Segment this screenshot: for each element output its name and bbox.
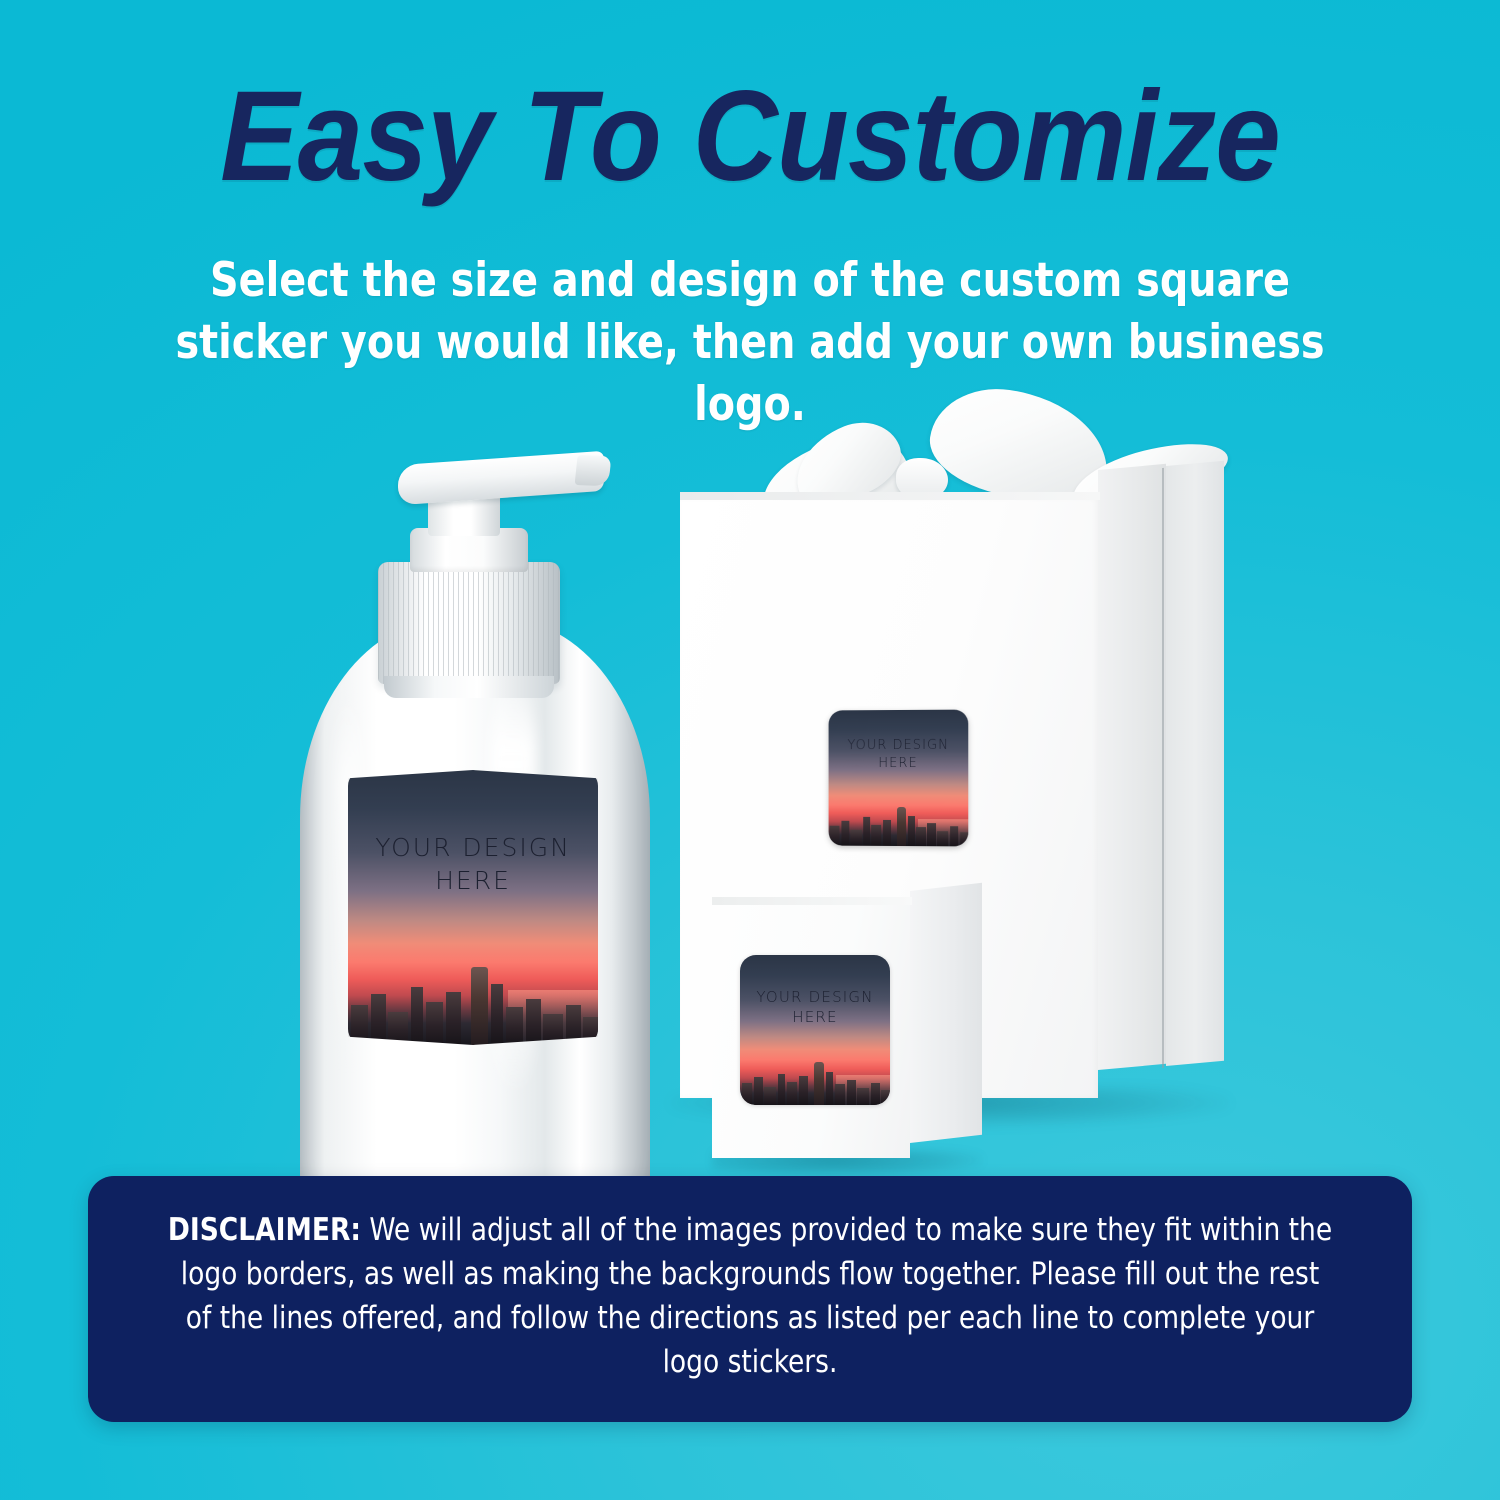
page-title: Easy To Customize (60, 70, 1440, 204)
disclaimer-text: DISCLAIMER: We will adjust all of the im… (165, 1208, 1335, 1384)
empire-state-building (471, 967, 489, 1045)
gift-box-seam (1162, 468, 1164, 1068)
sticker-skyline (829, 805, 969, 846)
bottle-collar (378, 562, 560, 684)
sticker-caption-line2: HERE (348, 864, 598, 898)
square-sticker-small: YOUR DESIGN HERE (829, 710, 969, 847)
sticker-skyline (740, 1060, 890, 1105)
sticker-caption-line2: HERE (740, 1007, 890, 1027)
square-sticker-large: YOUR DESIGN HERE (348, 770, 598, 1045)
gift-box-side (1098, 464, 1166, 1070)
empire-state-building (897, 807, 907, 846)
gift-box-top-edge (680, 492, 1100, 500)
sticker-caption: YOUR DESIGN HERE (829, 737, 969, 772)
product-box: YOUR DESIGN HERE (712, 893, 982, 1168)
pump-lever-icon (398, 451, 604, 505)
bottle-collar-lip (384, 676, 554, 698)
product-box-top-edge (712, 897, 912, 905)
sticker-caption: YOUR DESIGN HERE (348, 831, 598, 899)
subtitle-text: Select the size and design of the custom… (148, 250, 1351, 436)
product-box-side (910, 883, 982, 1143)
sticker-caption-line1: YOUR DESIGN (348, 831, 598, 865)
promo-graphic: Easy To Customize Select the size and de… (0, 0, 1500, 1500)
gift-box-side-far (1166, 461, 1224, 1066)
sticker-caption-line1: YOUR DESIGN (829, 737, 969, 755)
sticker-caption: YOUR DESIGN HERE (740, 987, 890, 1028)
empire-state-building (814, 1062, 825, 1105)
disclaimer-banner: DISCLAIMER: We will adjust all of the im… (88, 1176, 1412, 1422)
sticker-skyline (348, 963, 598, 1046)
sticker-caption-line2: HERE (829, 755, 969, 773)
sticker-caption-line1: YOUR DESIGN (740, 987, 890, 1007)
square-sticker-medium: YOUR DESIGN HERE (740, 955, 890, 1105)
pump-bottle-product: YOUR DESIGN HERE (290, 440, 660, 1230)
disclaimer-label: DISCLAIMER: (168, 1212, 361, 1248)
